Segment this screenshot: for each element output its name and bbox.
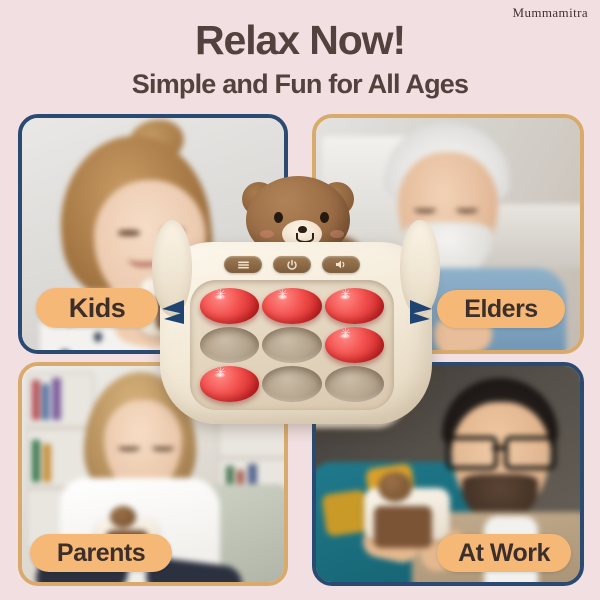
brand-logo: Mummamitra	[513, 5, 589, 21]
menu-lines-icon	[236, 260, 251, 270]
bear-eye-left-icon	[274, 212, 283, 223]
badge-parents[interactable]: Parents	[30, 534, 172, 572]
bubble-grid[interactable]	[200, 288, 384, 402]
bubble-r1c2[interactable]	[262, 288, 321, 324]
bear-eye-right-icon	[320, 212, 329, 223]
volume-button[interactable]	[322, 256, 360, 273]
control-button-row	[224, 256, 360, 273]
power-icon	[286, 259, 298, 271]
bubble-r2c2[interactable]	[262, 327, 321, 363]
page-subtitle: Simple and Fun for All Ages	[0, 70, 600, 100]
bear-nose-icon	[298, 226, 307, 233]
bear-cheek-left-icon	[260, 230, 274, 238]
bubble-r3c3[interactable]	[325, 366, 384, 402]
chevron-left-accent-icon	[158, 298, 188, 326]
page-title: Relax Now!	[0, 20, 600, 61]
bubble-r1c1[interactable]	[200, 288, 259, 324]
bubble-r3c1[interactable]	[200, 366, 259, 402]
power-button[interactable]	[273, 256, 311, 273]
bubble-r2c3[interactable]	[325, 327, 384, 363]
badge-elders[interactable]: Elders	[437, 290, 565, 328]
product-device[interactable]	[150, 176, 442, 428]
bubble-r1c3[interactable]	[325, 288, 384, 324]
bubble-r2c1[interactable]	[200, 327, 259, 363]
chevron-right-accent-icon	[406, 298, 436, 326]
bear-cheek-right-icon	[330, 230, 344, 238]
speaker-icon	[334, 259, 348, 270]
menu-button[interactable]	[224, 256, 262, 273]
badge-at-work[interactable]: At Work	[437, 534, 571, 572]
bubble-r3c2[interactable]	[262, 366, 321, 402]
promo-banner: Mummamitra Relax Now! Simple and Fun for…	[0, 0, 600, 600]
badge-kids[interactable]: Kids	[36, 288, 158, 328]
